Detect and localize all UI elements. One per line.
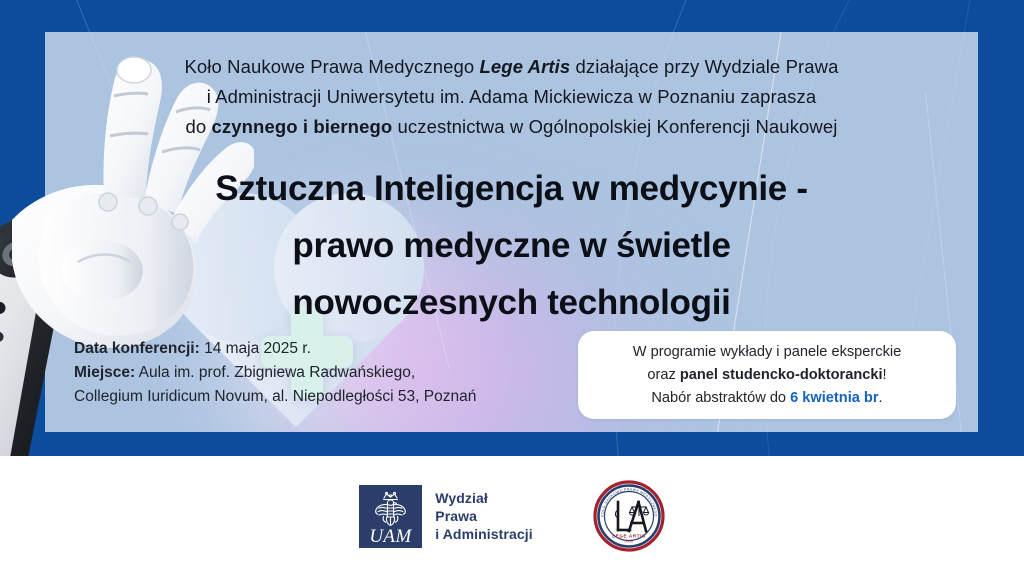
- event-details: Data konferencji: 14 maja 2025 r. Miejsc…: [74, 337, 594, 409]
- intro-line-3-post: uczestnictwa w Ogólnopolskiej Konferencj…: [392, 116, 837, 137]
- intro-line-2: i Administracji Uniwersytetu im. Adama M…: [45, 82, 978, 112]
- intro-text: Koło Naukowe Prawa Medycznego Lege Artis…: [45, 52, 978, 142]
- svg-text:UAM: UAM: [370, 526, 413, 547]
- intro-line-3: do czynnego i biernego uczestnictwa w Og…: [45, 112, 978, 142]
- student-panel-emphasis: panel studencko-doktorancki: [680, 367, 883, 383]
- title-line-1: Sztuczna Inteligencja w medycynie -: [45, 160, 978, 217]
- program-line-1: W programie wykłady i panele eksperckie: [633, 341, 901, 364]
- org-name-emphasis: Lege Artis: [480, 56, 571, 77]
- lege-artis-seal: KOŁO NAUKOWE PRAWA MEDYCZNEGO: [593, 480, 665, 552]
- seal-subcaption: UAM: [624, 540, 633, 544]
- intro-line-3-pre: do: [185, 116, 211, 137]
- conference-date: Data konferencji: 14 maja 2025 r.: [74, 337, 594, 361]
- uam-line-1: Wydział: [435, 489, 532, 507]
- uam-eagle-icon: UAM: [359, 485, 422, 548]
- title-line-3: nowoczesnych technologii: [45, 274, 978, 331]
- conference-venue: Miejsce: Aula im. prof. Zbigniewa Radwań…: [74, 361, 594, 385]
- conference-address: Collegium Iuridicum Novum, al. Niepodleg…: [74, 385, 594, 409]
- date-value: 14 maja 2025 r.: [200, 340, 311, 357]
- place-value: Aula im. prof. Zbigniewa Radwańskiego,: [135, 364, 415, 381]
- program-info-box: W programie wykłady i panele eksperckie …: [578, 331, 956, 419]
- abstract-deadline-date: 6 kwietnia br: [790, 390, 878, 406]
- page-title: Sztuczna Inteligencja w medycynie - praw…: [45, 160, 978, 331]
- intro-line-1: Koło Naukowe Prawa Medycznego Lege Artis…: [45, 52, 978, 82]
- participation-emphasis: czynnego i biernego: [212, 116, 393, 137]
- uam-logo: UAM Wydział Prawa i Administracji: [359, 485, 532, 548]
- conference-poster: Koło Naukowe Prawa Medycznego Lege Artis…: [0, 0, 1024, 576]
- intro-line-1-post: działające przy Wydziale Prawa: [570, 56, 838, 77]
- uam-line-3: i Administracji: [435, 525, 532, 543]
- title-line-2: prawo medyczne w świetle: [45, 217, 978, 274]
- abstract-deadline-post: .: [879, 390, 883, 406]
- abstract-deadline-pre: Nabór abstraktów do: [651, 390, 790, 406]
- uam-faculty-name: Wydział Prawa i Administracji: [435, 489, 532, 543]
- date-label: Data konferencji:: [74, 340, 200, 357]
- program-line-2-pre: oraz: [647, 367, 679, 383]
- uam-line-2: Prawa: [435, 507, 532, 525]
- program-line-2: oraz panel studencko-doktorancki!: [633, 364, 901, 387]
- program-line-3: Nabór abstraktów do 6 kwietnia br.: [633, 387, 901, 410]
- program-line-2-post: !: [883, 367, 887, 383]
- footer-logos: UAM Wydział Prawa i Administracji KOŁO N…: [0, 456, 1024, 576]
- seal-caption: LEGE ARTIS: [612, 534, 645, 539]
- place-label: Miejsce:: [74, 364, 135, 381]
- intro-line-1-pre: Koło Naukowe Prawa Medycznego: [184, 56, 479, 77]
